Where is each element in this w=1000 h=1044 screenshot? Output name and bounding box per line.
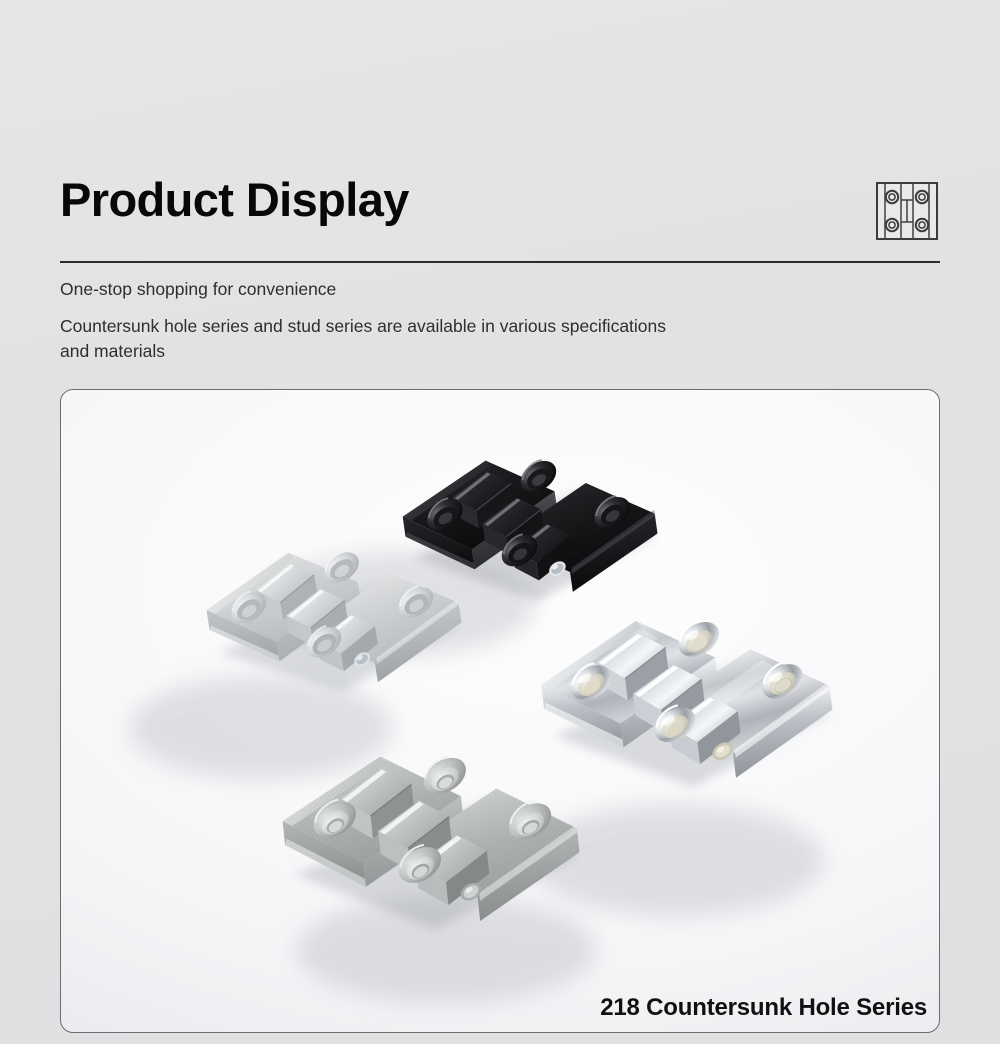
polished-chrome-hinge-graphic [535, 598, 840, 804]
header: Product Display [60, 176, 940, 245]
product-gallery-card: 218 Countersunk Hole Series [60, 389, 940, 1033]
gallery-caption: 218 Countersunk Hole Series [600, 994, 927, 1022]
title-divider [60, 261, 940, 263]
page-title: Product Display [60, 176, 409, 223]
subtitle-secondary: Countersunk hole series and stud series … [60, 314, 685, 365]
product-photo-stage [61, 390, 939, 1032]
subtitle-primary: One-stop shopping for convenience [60, 278, 740, 302]
hinge-outline-icon [876, 182, 938, 245]
header-subtitles: One-stop shopping for convenience Counte… [60, 278, 740, 364]
product-display-page: Product Display [0, 0, 1000, 1044]
